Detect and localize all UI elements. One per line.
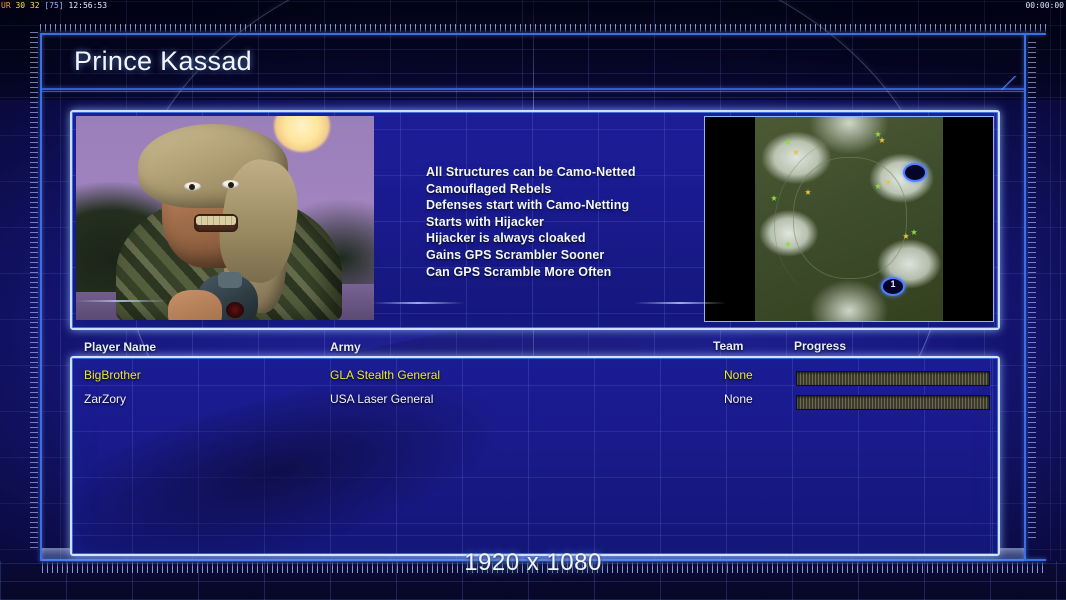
os-status-seg-0: UR [1, 1, 11, 10]
frame-border-right [1024, 33, 1026, 561]
general-bonus-list: All Structures can be Camo-Netted Camouf… [426, 164, 726, 280]
table-row[interactable]: BigBrother GLA Stealth General None [72, 368, 998, 392]
map-preview[interactable]: 1 [704, 116, 994, 322]
cell-army: USA Laser General [330, 392, 433, 406]
game-lobby-screen: UR 30 32 [75] 12:56:53 00:00:00 Prince K… [0, 0, 1066, 600]
marker-label: 1 [883, 279, 903, 290]
title-separator [42, 88, 1024, 90]
bonus-item: Can GPS Scramble More Often [426, 264, 726, 281]
os-status-bar: UR 30 32 [75] 12:56:53 00:00:00 [0, 0, 1066, 11]
column-header-progress: Progress [794, 339, 846, 353]
page-title: Prince Kassad [74, 46, 252, 77]
bonus-item: Starts with Hijacker [426, 214, 726, 231]
progress-bar [796, 395, 990, 410]
player-list-header: Player Name Army Team Progress [70, 340, 996, 356]
map-preview-image: 1 [755, 117, 943, 321]
player-list-panel[interactable]: BigBrother GLA Stealth General None ZarZ… [70, 356, 1000, 556]
table-row[interactable]: ZarZory USA Laser General None [72, 392, 998, 416]
frame-ruler-right [1028, 42, 1036, 542]
map-road-outer [755, 117, 943, 321]
map-resource-icon [885, 179, 891, 185]
title-separator-glow [42, 91, 1024, 92]
cell-player-name: ZarZory [84, 392, 126, 406]
bonus-item: Defenses start with Camo-Netting [426, 197, 726, 214]
map-resource-icon [771, 195, 777, 201]
map-resource-icon [793, 149, 799, 155]
portrait-grenade-cap [218, 272, 242, 288]
frame-ruler-left [30, 32, 38, 552]
os-status-left: UR 30 32 [75] 12:56:53 [1, 0, 107, 11]
os-status-seg-1: 30 [15, 1, 25, 10]
portrait-hand [168, 290, 222, 320]
column-header-army: Army [330, 340, 361, 354]
map-resource-icon [903, 233, 909, 239]
os-status-clock: 00:00:00 [1025, 0, 1064, 11]
frame-corner-notch-icon [994, 76, 1022, 90]
portrait-teeth [196, 216, 236, 225]
column-header-player-name: Player Name [84, 340, 156, 354]
panel-decoration-line-mid [372, 302, 464, 304]
os-status-seg-3: [75] [44, 1, 63, 10]
portrait-grenade-muzzle [226, 302, 244, 318]
map-resource-icon [875, 183, 881, 189]
map-resource-icon [785, 241, 791, 247]
cell-army: GLA Stealth General [330, 368, 440, 382]
cell-player-name: BigBrother [84, 368, 141, 382]
bonus-item: Camouflaged Rebels [426, 181, 726, 198]
frame-border-top [40, 33, 1046, 35]
start-position-marker-1[interactable]: 1 [881, 277, 905, 296]
resolution-label: 1920 x 1080 [0, 549, 1066, 577]
os-status-seg-2: 32 [30, 1, 40, 10]
frame-ruler-top [40, 24, 1046, 32]
frame-border-left [40, 33, 42, 561]
panel-decoration-line-left [76, 300, 168, 302]
bonus-list: All Structures can be Camo-Netted Camouf… [426, 164, 726, 280]
cell-team: None [724, 392, 753, 406]
cell-team: None [724, 368, 753, 382]
start-position-marker-empty[interactable] [903, 163, 927, 182]
map-resource-icon [879, 137, 885, 143]
os-status-seg-4: 12:56:53 [69, 1, 108, 10]
bonus-item: Hijacker is always cloaked [426, 230, 726, 247]
column-header-team: Team [713, 339, 743, 353]
map-resource-icon [911, 229, 917, 235]
bonus-item: Gains GPS Scrambler Sooner [426, 247, 726, 264]
portrait-pupil-left [189, 184, 195, 190]
panel-decoration-line-right [634, 302, 726, 304]
general-portrait [76, 116, 374, 320]
bonus-item: All Structures can be Camo-Netted [426, 164, 726, 181]
progress-bar [796, 371, 990, 386]
map-resource-icon [805, 189, 811, 195]
map-resource-icon [785, 139, 791, 145]
general-info-panel: All Structures can be Camo-Netted Camouf… [70, 110, 1000, 330]
portrait-pupil-right [228, 182, 234, 188]
